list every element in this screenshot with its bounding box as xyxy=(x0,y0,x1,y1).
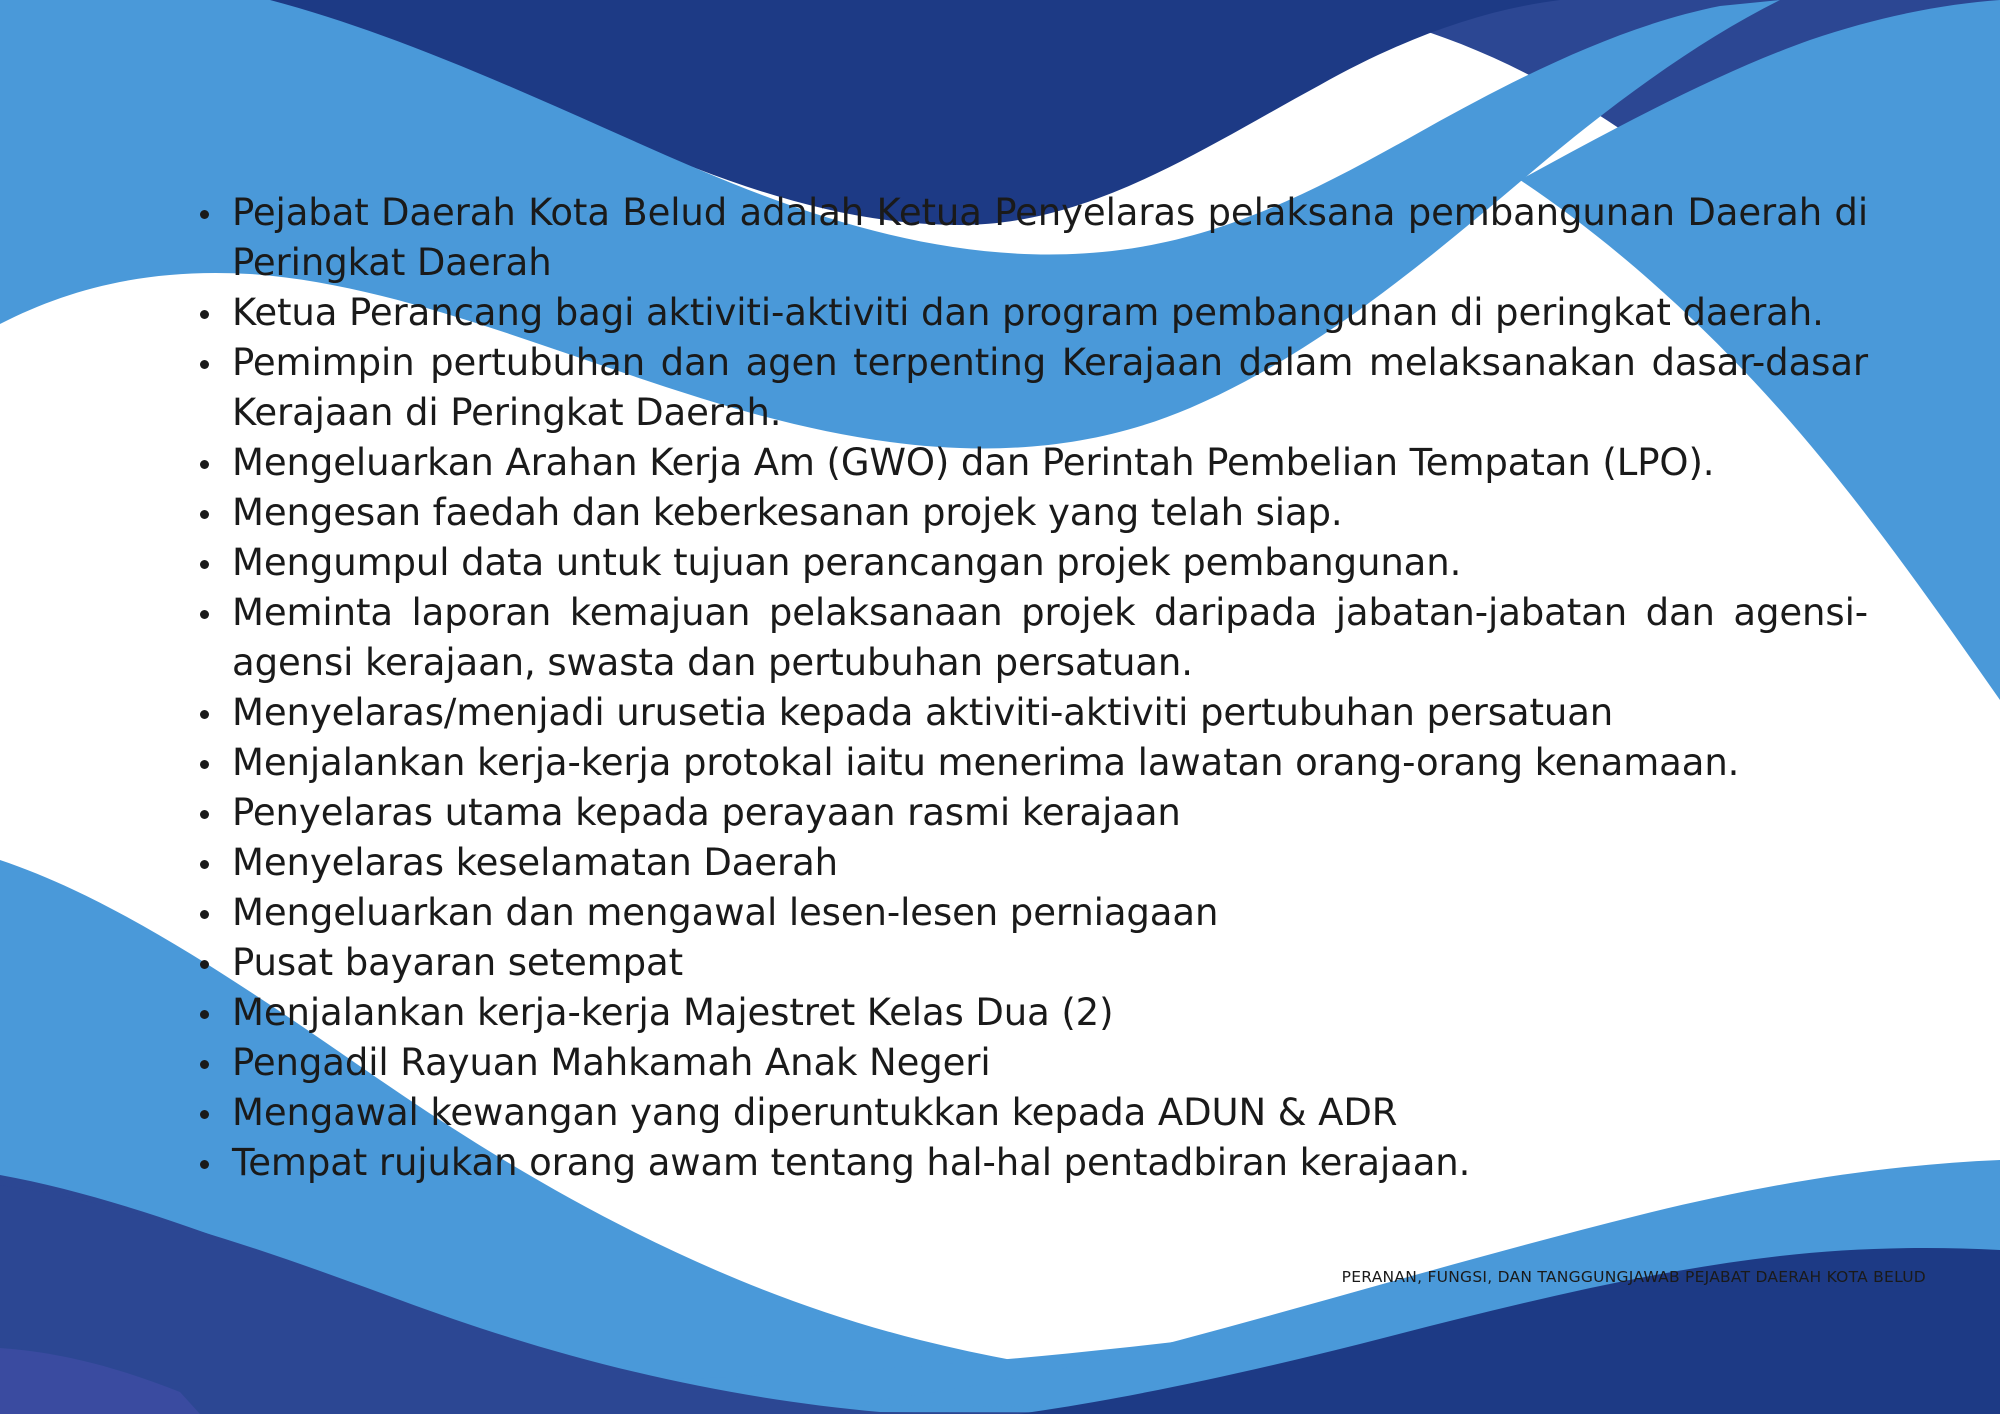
bottom-deep-navy-wave xyxy=(0,1185,2000,1414)
list-item: Mengesan faedah dan keberkesanan projek … xyxy=(168,488,1868,538)
list-item: Menyelaras/menjadi urusetia kepada aktiv… xyxy=(168,688,1868,738)
list-item: Pemimpin pertubuhan dan agen terpenting … xyxy=(168,338,1868,438)
list-item: Meminta laporan kemajuan pelaksanaan pro… xyxy=(168,588,1868,688)
bottom-right-light-blue-lobe xyxy=(840,1160,2000,1414)
responsibilities-list: Pejabat Daerah Kota Belud adalah Ketua P… xyxy=(168,188,1868,1188)
list-item: Ketua Perancang bagi aktiviti-aktiviti d… xyxy=(168,288,1868,338)
bottom-navy-wave xyxy=(0,1175,2000,1414)
list-item: Mengawal kewangan yang diperuntukkan kep… xyxy=(168,1088,1868,1138)
list-item: Mengeluarkan Arahan Kerja Am (GWO) dan P… xyxy=(168,438,1868,488)
list-item: Menjalankan kerja-kerja protokal iaitu m… xyxy=(168,738,1868,788)
bullet-list-container: Pejabat Daerah Kota Belud adalah Ketua P… xyxy=(168,188,1868,1188)
slide-footer: PERANAN, FUNGSI, DAN TANGGUNGJAWAB PEJAB… xyxy=(1342,1268,1926,1286)
list-item: Pejabat Daerah Kota Belud adalah Ketua P… xyxy=(168,188,1868,288)
list-item: Pengadil Rayuan Mahkamah Anak Negeri xyxy=(168,1038,1868,1088)
list-item: Pusat bayaran setempat xyxy=(168,938,1868,988)
list-item: Mengeluarkan dan mengawal lesen-lesen pe… xyxy=(168,888,1868,938)
list-item: Mengumpul data untuk tujuan perancangan … xyxy=(168,538,1868,588)
bottom-left-indigo-patch xyxy=(0,1348,200,1414)
list-item: Menjalankan kerja-kerja Majestret Kelas … xyxy=(168,988,1868,1038)
list-item: Menyelaras keselamatan Daerah xyxy=(168,838,1868,888)
list-item: Tempat rujukan orang awam tentang hal-ha… xyxy=(168,1138,1868,1188)
list-item: Penyelaras utama kepada perayaan rasmi k… xyxy=(168,788,1868,838)
slide: Pejabat Daerah Kota Belud adalah Ketua P… xyxy=(0,0,2000,1414)
